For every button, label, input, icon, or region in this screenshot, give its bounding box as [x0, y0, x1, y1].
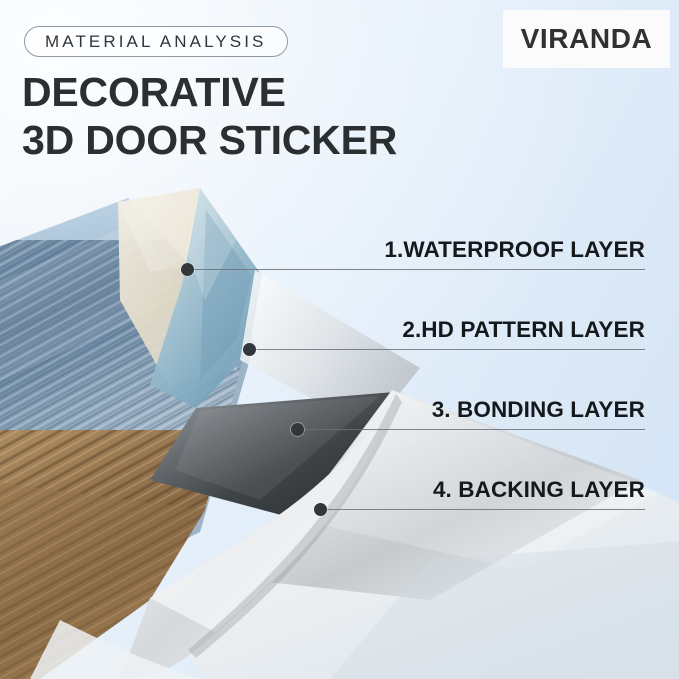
title-line-1: DECORATIVE — [22, 69, 286, 115]
eyebrow-badge: MATERIAL ANALYSIS — [24, 26, 288, 57]
callout-2-dot — [243, 343, 256, 356]
callout-3-dot — [291, 423, 304, 436]
brand-logo: VIRANDA — [503, 10, 670, 68]
title-line-2: 3D DOOR STICKER — [22, 116, 482, 164]
callout-1-label: 1.WATERPROOF LAYER — [384, 237, 645, 263]
callout-1-dot — [181, 263, 194, 276]
callout-2-label: 2.HD PATTERN LAYER — [402, 317, 645, 343]
callout-1-leader-line — [187, 269, 645, 270]
callout-4-leader-line — [320, 509, 645, 510]
callout-4-label: 4. BACKING LAYER — [433, 477, 645, 503]
callout-3-leader-line — [297, 429, 645, 430]
callout-3-label: 3. BONDING LAYER — [432, 397, 645, 423]
brand-name: VIRANDA — [521, 23, 653, 55]
page-title: DECORATIVE 3D DOOR STICKER — [22, 68, 482, 164]
poster-canvas: MATERIAL ANALYSIS DECORATIVE 3D DOOR STI… — [0, 0, 679, 679]
callout-2-leader-line — [249, 349, 645, 350]
callout-4-dot — [314, 503, 327, 516]
eyebrow-label: MATERIAL ANALYSIS — [45, 32, 267, 52]
